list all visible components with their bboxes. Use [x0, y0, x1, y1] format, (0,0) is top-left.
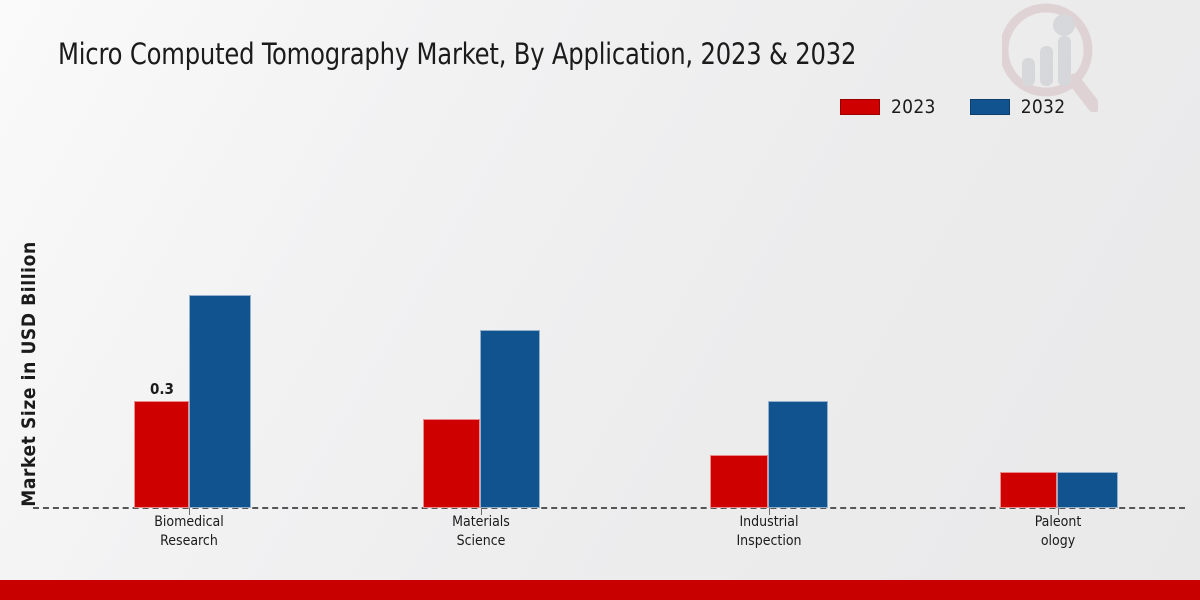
x-label-line-1: Paleont	[963, 513, 1153, 532]
bar-2023-industrial-inspection[interactable]	[710, 455, 768, 508]
bar-2032-biomedical-research[interactable]	[189, 295, 251, 508]
bar-2023-biomedical-research[interactable]	[134, 401, 189, 508]
x-label-biomedical-research: Biomedical Research	[94, 513, 284, 551]
bar-value-label-biomedical-research-2023: 0.3	[150, 380, 174, 398]
x-label-line-2: ology	[963, 532, 1153, 551]
x-label-industrial-inspection: Industrial Inspection	[674, 513, 864, 551]
chart-canvas: Micro Computed Tomography Market, By App…	[0, 0, 1200, 600]
x-label-line-2: Research	[94, 532, 284, 551]
bar-2023-materials-science[interactable]	[423, 419, 480, 508]
plot-area: 0.3 Biomedical Research Materials Scienc…	[0, 0, 1200, 600]
x-label-line-2: Science	[386, 532, 576, 551]
bar-2032-materials-science[interactable]	[480, 330, 540, 508]
x-label-paleontology: Paleont ology	[963, 513, 1153, 551]
footer-accent-strip	[0, 580, 1200, 600]
x-label-materials-science: Materials Science	[386, 513, 576, 551]
x-label-line-1: Biomedical	[94, 513, 284, 532]
x-label-line-1: Industrial	[674, 513, 864, 532]
bar-2032-paleontology[interactable]	[1057, 472, 1118, 508]
bar-2023-paleontology[interactable]	[1000, 472, 1057, 508]
x-label-line-2: Inspection	[674, 532, 864, 551]
x-label-line-1: Materials	[386, 513, 576, 532]
bar-2032-industrial-inspection[interactable]	[768, 401, 828, 508]
